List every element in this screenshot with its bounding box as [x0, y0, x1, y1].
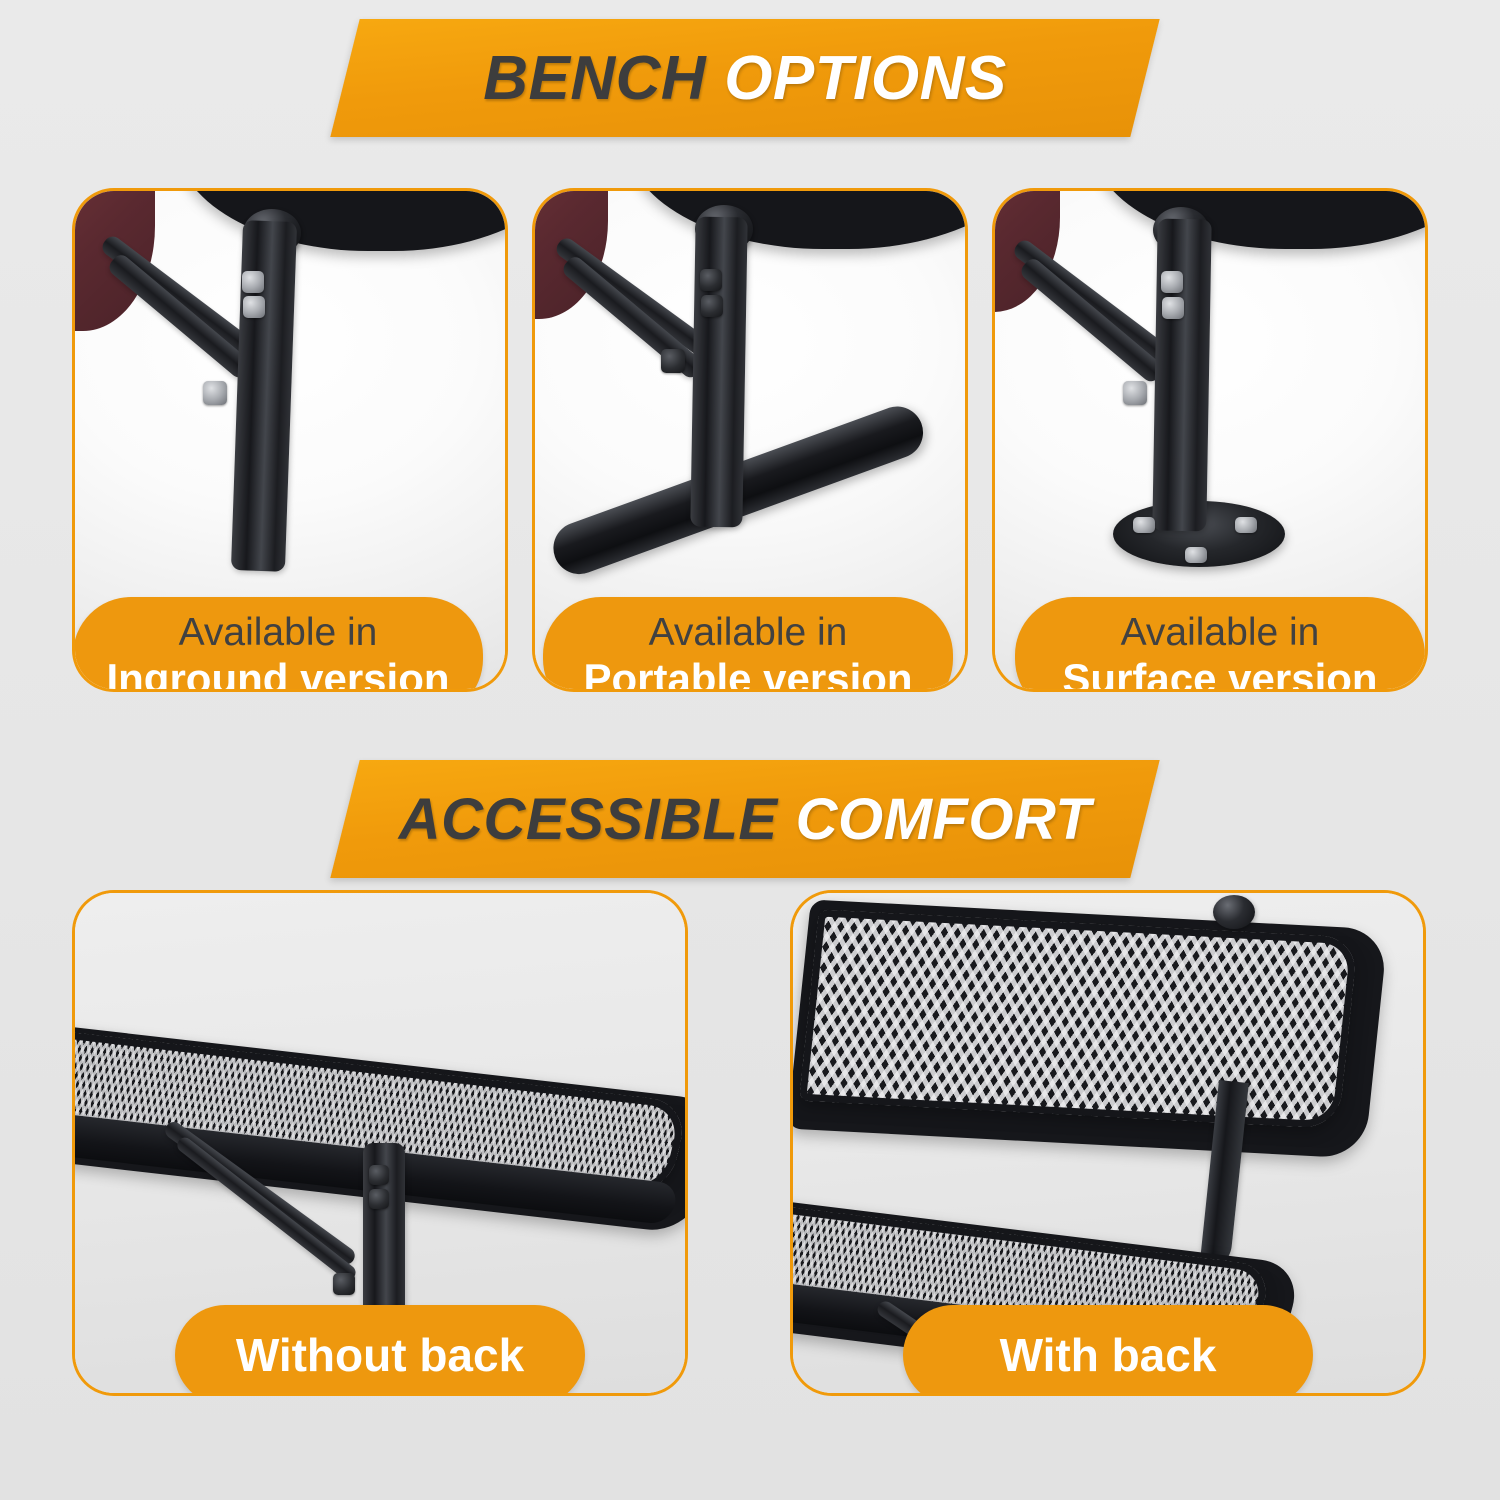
caption-line-2: Surface version	[1062, 655, 1377, 692]
bolt-upper	[700, 269, 722, 291]
caption-line-2: Inground version	[106, 655, 449, 692]
banner-title-dark: ACCESSIBLE	[399, 786, 778, 853]
card-inground: Available in Inground version	[72, 188, 508, 692]
bolt-mid	[1162, 297, 1184, 319]
anchor-bolt-left	[1133, 517, 1155, 533]
caption-line-2: Portable version	[583, 655, 912, 692]
anchor-bolt-front	[1185, 547, 1207, 563]
banner-text: ACCESSIBLE COMFORT	[345, 760, 1145, 878]
bolt-mid	[243, 296, 265, 318]
banner-title-light: OPTIONS	[724, 43, 1007, 114]
bolt-mid	[701, 295, 723, 317]
caption-pill-surface: Available in Surface version	[1015, 597, 1425, 692]
bolt-brace-joint	[203, 381, 227, 405]
card-surface: Available in Surface version	[992, 188, 1428, 692]
banner-title-light: COMFORT	[796, 786, 1092, 853]
bolt-brace-joint	[661, 349, 685, 373]
card-with-back: With back	[790, 890, 1426, 1396]
anchor-bolt-right	[1235, 517, 1257, 533]
backrest-mesh-surface	[799, 909, 1358, 1128]
banner-title-dark: BENCH	[483, 43, 706, 114]
bolt-upper	[369, 1165, 389, 1185]
section-banner-bench-options: BENCH OPTIONS	[345, 19, 1145, 137]
bolt-upper	[242, 271, 264, 293]
card-without-back: Without back	[72, 890, 688, 1396]
bolt-brace-joint	[333, 1273, 355, 1295]
card-portable: Available in Portable version	[532, 188, 968, 692]
banner-text: BENCH OPTIONS	[345, 19, 1145, 137]
section-banner-accessible-comfort: ACCESSIBLE COMFORT	[345, 760, 1145, 878]
backrest-top-knob	[1213, 895, 1255, 929]
caption-line-1: Available in	[1121, 611, 1320, 655]
caption-pill-inground: Available in Inground version	[73, 597, 483, 692]
caption-line-1: Available in	[649, 611, 848, 655]
caption-pill-portable: Available in Portable version	[543, 597, 953, 692]
caption-pill-without-back: Without back	[175, 1305, 585, 1396]
caption-pill-with-back: With back	[903, 1305, 1313, 1396]
caption-line-2: Without back	[236, 1329, 524, 1382]
leg-post	[1152, 219, 1211, 532]
bolt-mid	[369, 1189, 389, 1209]
infographic-page: BENCH OPTIONS Available in Inground vers	[0, 0, 1500, 1500]
caption-line-2: With back	[1000, 1329, 1217, 1382]
bolt-upper	[1161, 271, 1183, 293]
bolt-brace-joint	[1123, 381, 1147, 405]
leg-post	[690, 217, 747, 528]
caption-line-1: Available in	[179, 611, 378, 655]
